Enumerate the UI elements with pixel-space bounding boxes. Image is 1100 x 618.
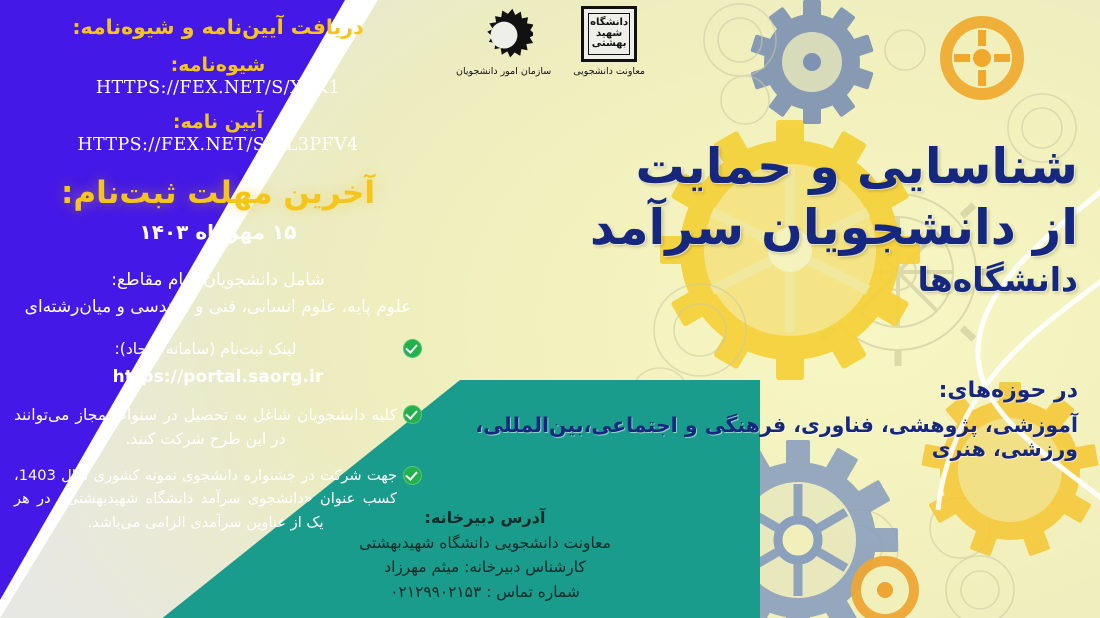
list-item: لینک ثبت‌نام (سامانه سجاد): (14, 337, 422, 361)
sao-logo: سازمان امور دانشجویان (456, 6, 551, 78)
secretariat-line-2: کارشناس دبیرخانه: میثم مهرزاد (300, 555, 670, 580)
gear-orange-icon (940, 16, 1024, 100)
gear-slate-swirl-icon (750, 0, 873, 124)
levels-line-1: شامل دانشجویان تمام مقاطع: (14, 268, 422, 294)
levels-line-2: علوم پایه، علوم انسانی، فنی و مهندسی و م… (14, 295, 422, 321)
regulation-label: آیین نامه: (14, 111, 422, 133)
regulation-url[interactable]: HTTPS://FEX.NET/S/DL3PFV4 (14, 135, 422, 155)
gear-slate-bottom-icon (698, 440, 898, 618)
title-line-2: از دانشجویان سرآمد (538, 201, 1078, 256)
download-heading: دریافت آیین‌نامه و شیوه‌نامه: (14, 15, 422, 41)
sbu-emblem-text: دانشگاه شهید بهشتی (588, 13, 630, 55)
method-label: شیوه‌نامه: (14, 54, 422, 76)
secretariat-phone: شماره تماس : ۰۲۱۲۹۹۰۲۱۵۳ (300, 580, 670, 605)
sbu-emblem-icon: دانشگاه شهید بهشتی (581, 6, 637, 62)
poster-title: شناسایی و حمایت از دانشجویان سرآمد دانشگ… (538, 140, 1078, 299)
fields-list: آموزشی، پژوهشی، فناوری، فرهنگی و اجتماعی… (418, 413, 1078, 461)
secretariat-block: آدرس دبیرخانه: معاونت دانشجویی دانشگاه ش… (300, 505, 670, 605)
method-url[interactable]: HTTPS://FEX.NET/S/XSK1 (14, 78, 422, 98)
list-item: کلیه دانشجویان شاغل به تحصیل در سنوات مج… (14, 403, 422, 451)
logo-row: دانشگاه شهید بهشتی معاونت دانشجویی سازما… (425, 6, 645, 116)
gear-sketch-icon (630, 4, 1076, 618)
fields-heading: در حوزه‌های: (418, 378, 1078, 403)
registration-link-label: لینک ثبت‌نام (سامانه سجاد): (14, 337, 397, 361)
fields-block: در حوزه‌های: آموزشی، پژوهشی، فناوری، فره… (418, 378, 1078, 461)
secretariat-line-1: معاونت دانشجویی دانشگاه شهیدبهشتی (300, 531, 670, 556)
secretariat-address-label: آدرس دبیرخانه: (300, 505, 670, 531)
registration-portal-url[interactable]: https://portal.saorg.ir (14, 367, 422, 387)
poster-canvas: دانشگاه شهید بهشتی معاونت دانشجویی سازما… (0, 0, 1100, 618)
sao-emblem-icon (475, 6, 533, 62)
title-line-3: دانشگاه‌ها (538, 262, 1078, 299)
sao-logo-caption: سازمان امور دانشجویان (456, 66, 551, 78)
deadline-date: ۱۵ مهرماه ۱۴۰۳ (14, 220, 422, 244)
check-icon (403, 466, 422, 485)
check-icon (403, 339, 422, 358)
gear-orange-small-icon (851, 556, 919, 618)
sbu-logo-caption: معاونت دانشجویی (573, 66, 645, 78)
deadline-heading: آخرین مهلت ثبت‌نام: (14, 175, 422, 211)
eligibility-text: کلیه دانشجویان شاغل به تحصیل در سنوات مج… (14, 403, 397, 451)
title-line-1: شناسایی و حمایت (538, 140, 1078, 195)
sbu-logo: دانشگاه شهید بهشتی معاونت دانشجویی (573, 6, 645, 78)
